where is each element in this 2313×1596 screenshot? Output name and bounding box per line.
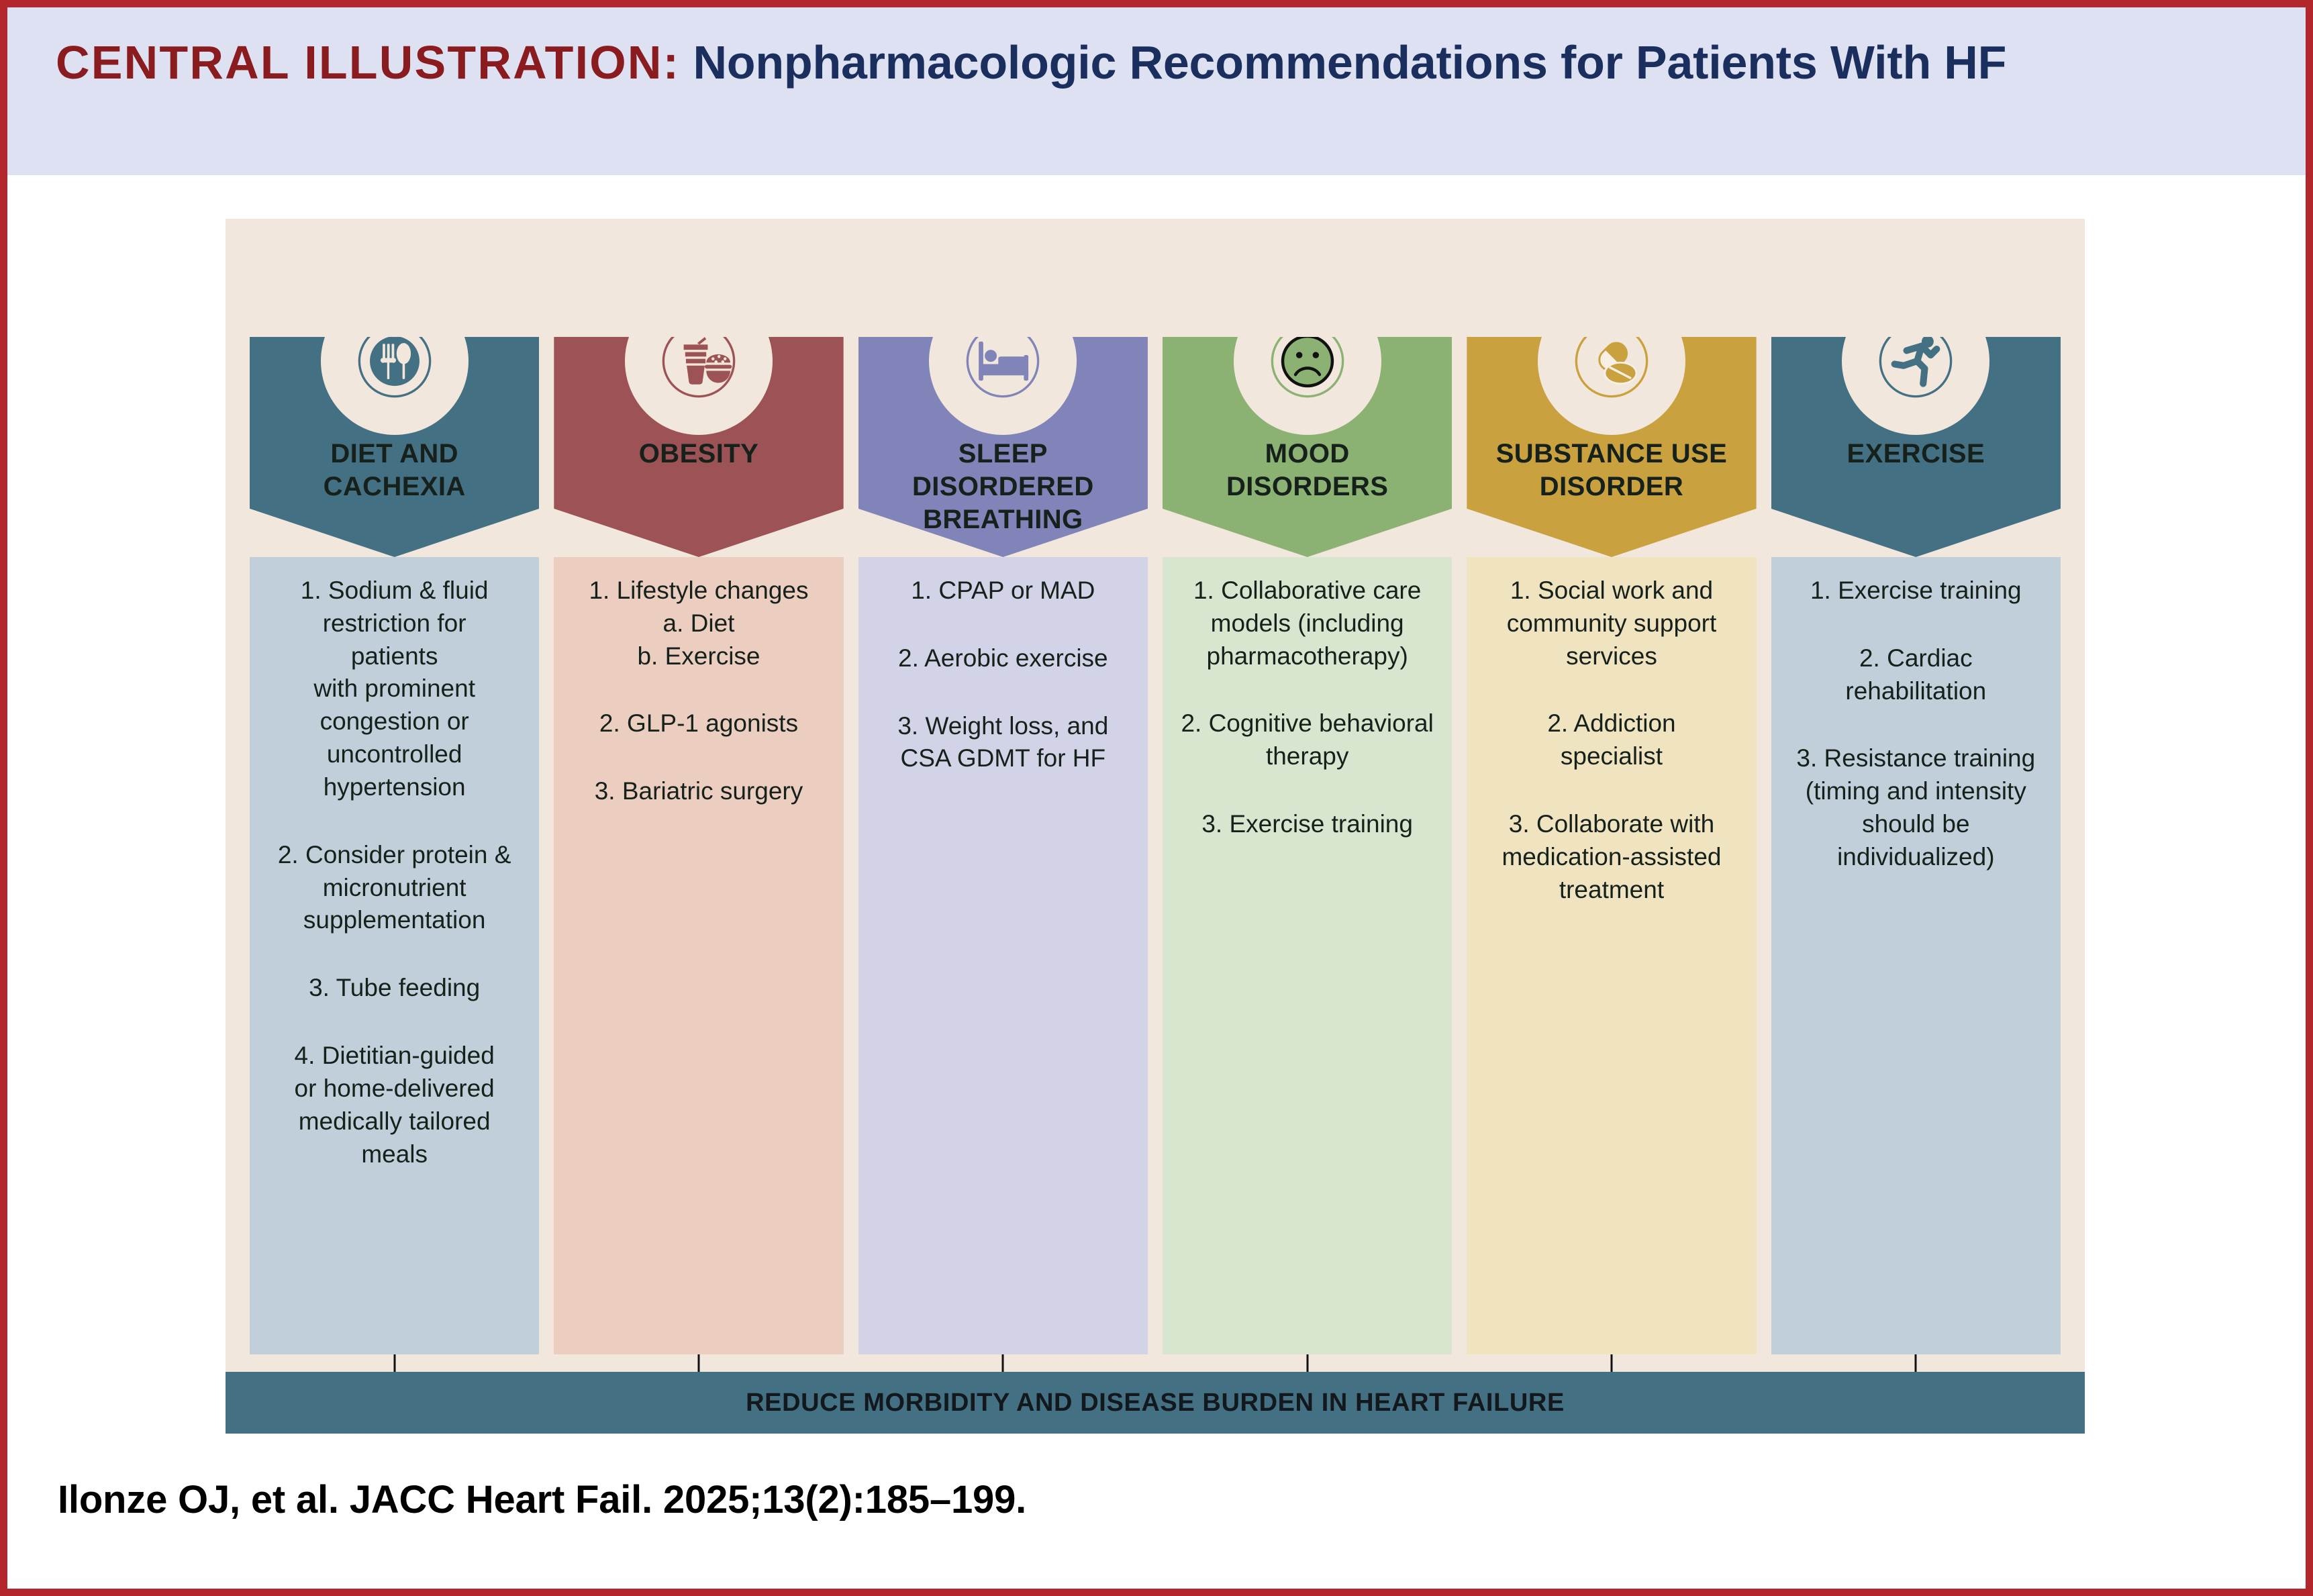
sad-face-icon — [1234, 287, 1381, 435]
column-header-sleep-disordered-breathing: SLEEP DISORDERED BREATHING — [858, 337, 1148, 557]
recommendation-item: 1. Sodium & fluid restriction for patien… — [262, 575, 527, 804]
column-body-diet-and-cachexia: 1. Sodium & fluid restriction for patien… — [250, 557, 539, 1354]
page-title: CENTRAL ILLUSTRATION: Nonpharmacologic R… — [56, 33, 2265, 93]
category-columns: DIET AND CACHEXIA1. Sodium & fluid restr… — [250, 337, 2061, 1354]
title-lead-label: CENTRAL ILLUSTRATION: — [56, 36, 680, 89]
outcome-bar-label: REDUCE MORBIDITY AND DISEASE BURDEN IN H… — [746, 1389, 1565, 1417]
column-header-obesity: OBESITY — [554, 337, 843, 557]
title-banner: CENTRAL ILLUSTRATION: Nonpharmacologic R… — [7, 7, 2306, 175]
recommendation-item: 1. Social work and community support ser… — [1479, 575, 1744, 672]
column-title-exercise: EXERCISE — [1771, 438, 2061, 470]
category-column-obesity: OBESITY1. Lifestyle changes a. Diet b. E… — [554, 337, 843, 1354]
column-body-sleep-disordered-breathing: 1. CPAP or MAD2. Aerobic exercise3. Weig… — [858, 557, 1148, 1354]
column-title-obesity: OBESITY — [554, 438, 843, 470]
running-person-icon — [1842, 287, 1989, 435]
column-body-mood-disorders: 1. Collaborative care models (including … — [1163, 557, 1452, 1354]
recommendation-item: 1. Exercise training — [1783, 575, 2049, 607]
recommendation-item: 2. Consider protein & micronutrient supp… — [262, 839, 527, 937]
title-rest-label: Nonpharmacologic Recommendations for Pat… — [680, 36, 2006, 89]
recommendation-item: 2. Cardiac rehabilitation — [1783, 642, 2049, 708]
column-title-mood-disorders: MOOD DISORDERS — [1163, 438, 1452, 503]
recommendation-item: 3. Exercise training — [1175, 808, 1440, 841]
pill-capsule-icon — [1538, 287, 1685, 435]
category-column-sleep-disordered-breathing: SLEEP DISORDERED BREATHING1. CPAP or MAD… — [858, 337, 1148, 1354]
category-column-diet-and-cachexia: DIET AND CACHEXIA1. Sodium & fluid restr… — [250, 337, 539, 1354]
recommendation-item: 1. Lifestyle changes a. Diet b. Exercise — [566, 575, 831, 672]
citation-text: Ilonze OJ, et al. JACC Heart Fail. 2025;… — [58, 1477, 1026, 1522]
column-body-exercise: 1. Exercise training2. Cardiac rehabilit… — [1771, 557, 2061, 1354]
recommendation-item: 1. Collaborative care models (including … — [1175, 575, 1440, 672]
recommendation-item: 2. Aerobic exercise — [871, 642, 1136, 675]
recommendation-item: 3. Bariatric surgery — [566, 775, 831, 808]
column-body-substance-use-disorder: 1. Social work and community support ser… — [1467, 557, 1756, 1354]
recommendation-item: 2. Addiction specialist — [1479, 707, 1744, 773]
category-column-exercise: EXERCISE1. Exercise training2. Cardiac r… — [1771, 337, 2061, 1354]
recommendation-item: 3. Collaborate with medication-assisted … — [1479, 808, 1744, 906]
recommendation-item: 4. Dietitian-guided or home-delivered me… — [262, 1040, 527, 1170]
column-header-exercise: EXERCISE — [1771, 337, 2061, 557]
soda-and-burger-icon — [625, 287, 773, 435]
illustration-panel: DIET AND CACHEXIA1. Sodium & fluid restr… — [226, 219, 2085, 1434]
column-header-substance-use-disorder: SUBSTANCE USE DISORDER — [1467, 337, 1756, 557]
recommendation-item: 2. GLP-1 agonists — [566, 707, 831, 740]
column-title-sleep-disordered-breathing: SLEEP DISORDERED BREATHING — [858, 438, 1148, 536]
person-in-bed-icon — [929, 287, 1077, 435]
column-title-substance-use-disorder: SUBSTANCE USE DISORDER — [1467, 438, 1756, 503]
column-body-obesity: 1. Lifestyle changes a. Diet b. Exercise… — [554, 557, 843, 1354]
category-column-mood-disorders: MOOD DISORDERS1. Collaborative care mode… — [1163, 337, 1452, 1354]
outcome-bar: REDUCE MORBIDITY AND DISEASE BURDEN IN H… — [226, 1372, 2085, 1434]
central-illustration-figure: CENTRAL ILLUSTRATION: Nonpharmacologic R… — [0, 0, 2313, 1596]
recommendation-item: 3. Weight loss, and CSA GDMT for HF — [871, 710, 1136, 776]
recommendation-item: 2. Cognitive behavioral therapy — [1175, 707, 1440, 773]
recommendation-item: 3. Resistance training (timing and inten… — [1783, 742, 2049, 873]
column-header-diet-and-cachexia: DIET AND CACHEXIA — [250, 337, 539, 557]
category-column-substance-use-disorder: SUBSTANCE USE DISORDER1. Social work and… — [1467, 337, 1756, 1354]
plate-fork-spoon-icon — [321, 287, 469, 435]
recommendation-item: 1. CPAP or MAD — [871, 575, 1136, 607]
column-title-diet-and-cachexia: DIET AND CACHEXIA — [250, 438, 539, 503]
recommendation-item: 3. Tube feeding — [262, 972, 527, 1005]
column-header-mood-disorders: MOOD DISORDERS — [1163, 337, 1452, 557]
